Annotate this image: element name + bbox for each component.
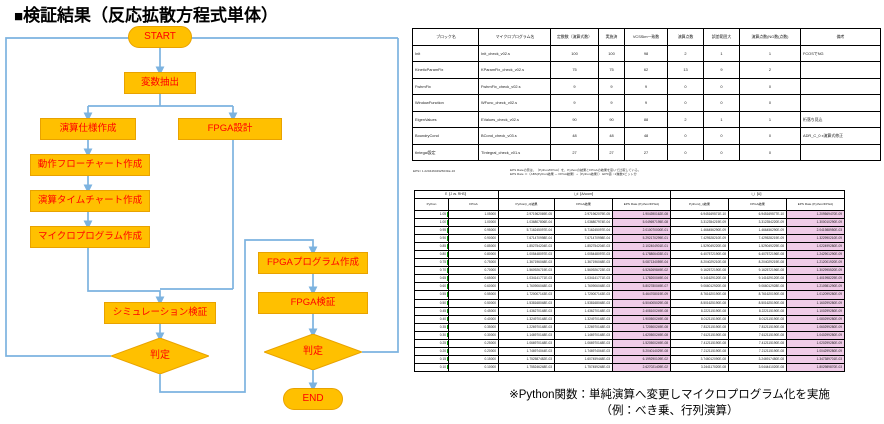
table-row: 0.300.300001.146970148E-031.146970148E-0… [415, 331, 881, 339]
column-header-python-id: Python(i_d)結果 [499, 199, 555, 211]
cell-python-ii: 7.212115190E-08 [671, 347, 729, 355]
cell-eps-rate-id: 6.178806403E-01 [613, 251, 671, 259]
cell-eps-rate-ii: 1.020299280E-09 [787, 339, 845, 347]
cell-errrange: 0 [704, 78, 740, 95]
cell-eps-rate-id: 2.102404901E-01 [613, 243, 671, 251]
cell-points: 0 [668, 78, 704, 95]
cell-done: 48 [599, 128, 625, 145]
column-header-eps-rate-ii: EPS Rate (Python/FPGA) [787, 199, 845, 211]
cell-program: BCond_check_v03.s [479, 128, 551, 145]
cell-ng: 2 [740, 62, 801, 79]
cell-fpga-ii: 3.044441020E-08 [729, 363, 787, 371]
column-header-points: 演算点数 [668, 29, 704, 46]
cell-fpga-id: 1.367196048E-03 [555, 259, 613, 267]
eps-comparison-table: E【J vs. RHS】 i_d【A/sccm】 i_i【A】 Python F… [414, 190, 881, 372]
cell-block: FwhmFix [413, 78, 479, 95]
cell-fpga-ii: 7.412115190E-08 [729, 339, 787, 347]
spacer-cell [845, 363, 881, 371]
cell-python: 0.55 [415, 291, 449, 299]
table-row: 0.800.800001.005448097E-031.005448097E-0… [415, 251, 881, 259]
cell-fpga-ii: 9.162572196E-08 [729, 267, 787, 275]
cell-points: 2 [668, 45, 704, 62]
cell-python-id: 5.716245097E-04 [499, 227, 555, 235]
cell-python-id: 1.367196048E-03 [499, 259, 555, 267]
flow-node-label: 動作フローチャート作成 [38, 160, 142, 170]
cell-python-ii: 3.312354219E-09 [671, 219, 729, 227]
cell-fpga-ii: 7.429528219E-09 [729, 235, 787, 243]
cell-consts: 90 [551, 111, 599, 128]
cell-points: 2 [668, 111, 704, 128]
cell-ng: 0 [740, 78, 801, 95]
flow-node-label: FPGA検証 [291, 298, 336, 308]
cell-python-id: 1.538168048E-03 [499, 299, 555, 307]
table-row: 0.650.650001.034141771E-031.034141771E-0… [415, 275, 881, 283]
cell-fpga-ii: 8.012115190E-08 [729, 315, 787, 323]
eps-rate-explanation: EPS Rateの意は、（Python/FPGA）を、Pythonの結果とFPG… [510, 168, 641, 177]
cell-eps-rate-ii: 2.041988950E-03 [787, 227, 845, 235]
flow-node-label: 演算タイムチャート作成 [38, 196, 142, 206]
cell-match: 27 [625, 144, 668, 161]
table-row: 0.700.700001.560926719E-031.560926723E-0… [415, 267, 881, 275]
cell-fpga: 0.50000 [449, 299, 499, 307]
cell-eps-rate-ii: 1.802989870E-03 [787, 363, 845, 371]
cell-python: 0.60 [415, 283, 449, 291]
spacer-cell [845, 331, 881, 339]
flow-node-operation-flowchart[interactable]: 動作フローチャート作成 [30, 154, 150, 176]
cell-program: KParamFix_check_v02.s [479, 62, 551, 79]
table-row: 0.950.950005.716245097E-045.716245097E-0… [415, 227, 881, 235]
cell-fpga: 0.80000 [449, 251, 499, 259]
cell-python-ii: 8.222115190E-08 [671, 307, 729, 315]
cell-python-id: 1.755246248E-03 [499, 363, 555, 371]
cell-fpga: 0.35000 [449, 323, 499, 331]
cell-python: 1.00 [415, 219, 449, 227]
table-row: 0.150.150001.752587482E-031.607459448E-0… [415, 355, 881, 363]
cell-done: 75 [599, 62, 625, 79]
cell-eps-rate-ii: 1.012099280E-09 [787, 291, 845, 299]
cell-python-id: 1.324970148E-03 [499, 315, 555, 323]
cell-errrange: 1 [704, 111, 740, 128]
column-header-fpga: FPGA [449, 199, 499, 211]
table-row: 0.250.250001.066970148E-031.066970148E-0… [415, 339, 881, 347]
cell-fpga-id: 5.716245097E-04 [555, 227, 613, 235]
table-row: 1.001.000001.036807806E-041.036807974E-0… [415, 219, 881, 227]
page-title: ■検証結果（反応拡散方程式単体） [14, 1, 278, 26]
table-row: 0.600.600001.760906048E-031.760906048E-0… [415, 283, 881, 291]
column-header-program: マイクロプログラム名 [479, 29, 551, 46]
cell-consts: 9 [551, 95, 599, 112]
table-row: FwhmFix FwhmFix_check_v02.s 9 9 9 0 0 0 [413, 78, 881, 95]
cell-fpga: 0.95000 [449, 227, 499, 235]
cell-match: 98 [625, 45, 668, 62]
column-header-fpga-ii: FPGA結果 [729, 199, 787, 211]
cell-eps-rate-ii: 1.022499280E-09 [787, 243, 845, 251]
bullet-marker: ■ [14, 8, 23, 25]
flow-node-operation-spec[interactable]: 演算仕様作成 [40, 118, 136, 140]
cell-python-id: 1.752587482E-03 [499, 355, 555, 363]
spacer-cell [845, 219, 881, 227]
cell-fpga: 0.75000 [449, 259, 499, 267]
cell-match: 88 [625, 111, 668, 128]
cell-match: 48 [625, 128, 668, 145]
cell-python: 0.10 [415, 363, 449, 371]
cell-python-ii: 8.012115190E-08 [671, 315, 729, 323]
cell-remark [801, 144, 881, 161]
table-subheader-row: Python FPGA Python(i_d)結果 FPGA結果 EPS Rat… [415, 199, 881, 211]
flow-node-end[interactable]: END [283, 388, 343, 410]
table-header-row: ブロック名 マイクロプログラム名 定数数（演算式数） 実施済 VCSSim一致数… [413, 29, 881, 46]
cell-eps-rate-id: 2.010070000E-01 [613, 227, 671, 235]
cell-python: 0.30 [415, 331, 449, 339]
flow-node-operation-timechart[interactable]: 演算タイムチャート作成 [30, 190, 150, 212]
cell-fpga-ii: 1.466456290E-09 [729, 227, 787, 235]
column-header-block: ブロック名 [413, 29, 479, 46]
cell-python-id: 1.720007143E-03 [499, 291, 555, 299]
cell-points: 0 [668, 128, 704, 145]
column-header-eps-rate-id: EPS Rate (Python/FPGA) [613, 199, 671, 211]
cell-fpga-ii: 8.761620190E-08 [729, 291, 787, 299]
page-title-text: 検証結果（反応拡散方程式単体） [23, 6, 278, 25]
cell-fpga: 0.15000 [449, 355, 499, 363]
cell-eps-rate-ii: 1.040299280E-09 [787, 331, 845, 339]
cell-fpga-ii: 1.529049229E-08 [729, 243, 787, 251]
cell-fpga-id: 1.066970148E-03 [555, 339, 613, 347]
table-row: 0.850.850001.852754204E-031.852754204E-0… [415, 243, 881, 251]
cell-python-id: 1.034141771E-03 [499, 275, 555, 283]
cell-program: WFunc_check_v02.s [479, 95, 551, 112]
table-row: EigenValues EValues_check_v02.s 90 90 88… [413, 111, 881, 128]
cell-eps-rate-ii: 1.347389701E-03 [787, 355, 845, 363]
cell-python-ii: 7.412115190E-08 [671, 339, 729, 347]
flow-node-label: 判定 [150, 351, 170, 362]
cell-done: 100 [599, 45, 625, 62]
cell-fpga: 0.45000 [449, 307, 499, 315]
cell-eps-rate-id: 5.464708019E-09 [613, 291, 671, 299]
spacer-cell [845, 211, 881, 219]
spacer-cell [845, 275, 881, 283]
cell-fpga: 1.05000 [449, 211, 499, 219]
cell-eps-rate-id: 1.720500249E-08 [613, 323, 671, 331]
cell-fpga: 0.20000 [449, 347, 499, 355]
column-header-fpga-id: FPGA結果 [555, 199, 613, 211]
cell-python: 0.90 [415, 235, 449, 243]
cell-fpga-id: 2.971962079E-05 [555, 211, 613, 219]
cell-fpga-ii: 9.066012928E-08 [729, 283, 787, 291]
cell-fpga-id: 1.760906048E-03 [555, 283, 613, 291]
cell-errrange: 9 [704, 62, 740, 79]
cell-remark [801, 78, 881, 95]
cell-eps-rate-id: 1.520500249E-08 [613, 339, 671, 347]
cell-eps-rate-ii: 1.160299280E-09 [787, 299, 845, 307]
flow-node-simulation-verification[interactable]: シミュレーション検証 [104, 302, 216, 324]
cell-python-ii: 7.612115190E-08 [671, 331, 729, 339]
cell-python-ii: 9.162572190E-08 [671, 267, 729, 275]
cell-consts: 27 [551, 144, 599, 161]
spacer-cell [845, 199, 881, 211]
group-header-ii: i_i【A】 [671, 191, 845, 199]
cell-errrange: 0 [704, 144, 740, 161]
cell-block: KineticParamFix [413, 62, 479, 79]
spacer-cell [845, 355, 881, 363]
cell-fpga-ii: 7.612115190E-08 [729, 331, 787, 339]
flow-node-variable-extraction[interactable]: 変数抽出 [124, 72, 196, 94]
spacer-cell [845, 251, 881, 259]
cell-fpga-ii: 3.312354220E-09 [729, 219, 787, 227]
cell-fpga: 0.85000 [449, 243, 499, 251]
cell-block: tIntegal設定 [413, 144, 479, 161]
cell-python: 0.85 [415, 243, 449, 251]
cell-python: 0.65 [415, 275, 449, 283]
flow-node-label: END [302, 394, 323, 405]
cell-match: 62 [625, 62, 668, 79]
cell-fpga-id: 1.324970148E-03 [555, 315, 613, 323]
cell-block: BoundryCond [413, 128, 479, 145]
column-header-remark: 備考 [801, 29, 881, 46]
cell-points: 0 [668, 95, 704, 112]
table-row: Init Init_check_v02.s 100 100 98 2 1 1 F… [413, 45, 881, 62]
cell-ng: 1 [740, 45, 801, 62]
cell-eps-rate-id: 5.802780049E-07 [613, 283, 671, 291]
eps-rate-line2: EPS Rate ＝（ABS(Python結果 － FPGA結果）÷（Pytho… [510, 172, 641, 176]
cell-remark [801, 62, 881, 79]
cell-fpga-ii: 7.212115190E-08 [729, 347, 787, 355]
cell-python-ii: 9.141629120E-08 [671, 275, 729, 283]
cell-python-id: 1.852754204E-03 [499, 243, 555, 251]
cell-points: 0 [668, 144, 704, 161]
cell-python: 0.35 [415, 323, 449, 331]
column-header-ng-count: 演算点数(NG数(点数) [740, 29, 801, 46]
cell-fpga-ii: 6.407572196E-08 [729, 251, 787, 259]
cell-python: 0.50 [415, 299, 449, 307]
cell-python: 1.05 [415, 211, 449, 219]
flow-node-label: 変数抽出 [141, 78, 179, 88]
cell-eps-rate-id: 5.292170299E-01 [613, 235, 671, 243]
footnote-line1: ※Python関数：単純演算へ変更しマイクロプログラム化を実施 [509, 389, 830, 401]
cell-python-id: 7.671470998E-04 [499, 235, 555, 243]
cell-errrange: 0 [704, 128, 740, 145]
cell-python-ii: 7.429528210E-09 [671, 235, 729, 243]
flow-node-label: 演算仕様作成 [59, 124, 116, 134]
cell-done: 9 [599, 78, 625, 95]
cell-python: 0.45 [415, 307, 449, 315]
cell-fpga-ii: 3.246917480E-08 [729, 355, 787, 363]
cell-fpga: 0.10000 [449, 363, 499, 371]
cell-fpga-ii: 6.945169577E-10 [729, 211, 787, 219]
cell-fpga: 0.70000 [449, 267, 499, 275]
cell-fpga-id: 1.036807974E-04 [555, 219, 613, 227]
flow-node-microprogram[interactable]: マイクロプログラム作成 [30, 226, 150, 248]
cell-python: 0.25 [415, 339, 449, 347]
cell-eps-rate-ii: 1.242901290E-09 [787, 251, 845, 259]
cell-python-ii: 1.529049220E-08 [671, 243, 729, 251]
cell-python: 0.20 [415, 347, 449, 355]
flowchart-diagram: START 変数抽出 演算仕様作成 FPGA設計 動作フローチャート作成 演算タ… [0, 24, 404, 424]
column-header-python-ii: Python(i_i)結果 [671, 199, 729, 211]
spacer-cell [845, 259, 881, 267]
spacer-cell [845, 339, 881, 347]
cell-match: 9 [625, 78, 668, 95]
cell-eps-rate-id: 1.900500249E-08 [613, 315, 671, 323]
cell-python-ii: 1.466456290E-09 [671, 227, 729, 235]
eps-value-note: EPS= 1.22044604925031E-16 [413, 169, 455, 173]
cell-eps-rate-ii: 1.209569470E-09 [787, 211, 845, 219]
cell-fpga: 0.90000 [449, 235, 499, 243]
table-row: 0.200.200001.746974044E-031.746974044E-0… [415, 347, 881, 355]
cell-fpga-id: 1.034141771E-03 [555, 275, 613, 283]
cell-eps-rate-ii: 1.322990210E-09 [787, 235, 845, 243]
cell-python: 0.15 [415, 355, 449, 363]
table-group-header-row: E【J vs. RHS】 i_d【A/sccm】 i_i【A】 [415, 191, 881, 199]
cell-consts: 9 [551, 78, 599, 95]
cell-eps-rate-id: 1.620500249E-08 [613, 331, 671, 339]
spacer-cell [845, 243, 881, 251]
flow-node-label: FPGAプログラム作成 [267, 258, 359, 268]
table-row: 0.100.100001.755246248E-031.757459248E-0… [415, 363, 881, 371]
cell-fpga-ii: 7.812115190E-08 [729, 323, 787, 331]
column-header-vcssim-match: VCSSim一致数 [625, 29, 668, 46]
flow-node-label: START [144, 32, 176, 43]
cell-python-id: 1.005448097E-03 [499, 251, 555, 259]
cell-python-id: 1.066970148E-03 [499, 339, 555, 347]
cell-python-id: 1.560926719E-03 [499, 267, 555, 275]
cell-python-id: 1.436270148E-03 [499, 307, 555, 315]
cell-fpga-id: 1.005448097E-03 [555, 251, 613, 259]
cell-eps-rate-ii: 1.100299280E-09 [787, 307, 845, 315]
table-row: BoundryCond BCond_check_v03.s 48 48 48 0… [413, 128, 881, 145]
cell-python-id: 1.760906048E-03 [499, 283, 555, 291]
table-row: 0.400.400001.324970148E-031.324970148E-0… [415, 315, 881, 323]
cell-python: 0.80 [415, 251, 449, 259]
flow-node-label: マイクロプログラム作成 [38, 232, 142, 242]
cell-python-id: 1.226970148E-03 [499, 323, 555, 331]
flow-node-fpga-program[interactable]: FPGAプログラム作成 [258, 252, 368, 274]
cell-python-ii: 8.204029210E-08 [671, 259, 729, 267]
spacer-cell [845, 227, 881, 235]
cell-ng: 0 [740, 128, 801, 145]
cell-block: EigenValues [413, 111, 479, 128]
cell-fpga-ii: 8.501625190E-08 [729, 299, 787, 307]
table-row: 0.900.900007.671470998E-047.671470998E-0… [415, 235, 881, 243]
cell-eps-rate-id: 1.178200049E-04 [613, 275, 671, 283]
spacer-cell [845, 299, 881, 307]
cell-done: 90 [599, 111, 625, 128]
cell-eps-rate-id: 5.087134059E-04 [613, 259, 671, 267]
cell-eps-rate-id: 2.627021409E-02 [613, 363, 671, 371]
cell-block: WindowFunction [413, 95, 479, 112]
cell-eps-rate-id: 1.904390162E-08 [613, 211, 671, 219]
eps-table-body: 1.051.050002.971962069E-052.971962079E-0… [415, 211, 881, 372]
spacer-cell [845, 235, 881, 243]
table-row: 0.350.350001.226970148E-031.226970148E-0… [415, 323, 881, 331]
flow-node-label: FPGA設計 [208, 124, 253, 134]
cell-eps-rate-id: 6.199290109E-02 [613, 355, 671, 363]
table-row: 0.500.500001.538168048E-031.538168048E-0… [415, 299, 881, 307]
cell-python-ii: 8.761620190E-08 [671, 291, 729, 299]
cell-eps-rate-id: 2.408100249E-08 [613, 307, 671, 315]
cell-eps-rate-ii: 1.004299280E-09 [787, 347, 845, 355]
cell-fpga: 0.60000 [449, 283, 499, 291]
footnote-line2: （例：べき乗、行列演算） [455, 404, 884, 420]
cell-eps-rate-id: 6.504005029E-08 [613, 299, 671, 307]
spacer-cell [845, 191, 881, 199]
cell-eps-rate-ii: 1.212001920E-09 [787, 259, 845, 267]
cell-python-id: 2.971962069E-05 [499, 211, 555, 219]
cell-eps-rate-ii: 1.300010290E-09 [787, 219, 845, 227]
column-header-error-range: 誤差範囲大 [704, 29, 740, 46]
cell-program: FwhmFix_check_v02.s [479, 78, 551, 95]
cell-fpga: 0.30000 [449, 331, 499, 339]
flow-node-fpga-verification[interactable]: FPGA検証 [258, 292, 368, 314]
cell-remark [801, 95, 881, 112]
cell-python: 0.75 [415, 259, 449, 267]
table-row: 0.550.550001.720007143E-031.720007143E-0… [415, 291, 881, 299]
column-header-const-count: 定数数（演算式数） [551, 29, 599, 46]
cell-python: 0.70 [415, 267, 449, 275]
cell-remark: 桁落ち見込 [801, 111, 881, 128]
spacer-cell [845, 323, 881, 331]
cell-python: 0.95 [415, 227, 449, 235]
cell-errrange: 0 [704, 95, 740, 112]
cell-program: EValues_check_v02.s [479, 111, 551, 128]
table-row: 1.051.050002.971962069E-052.971962079E-0… [415, 211, 881, 219]
cell-fpga: 0.65000 [449, 275, 499, 283]
table-row: 0.450.450001.436270148E-031.436270148E-0… [415, 307, 881, 315]
cell-fpga-ii: 8.222115190E-08 [729, 307, 787, 315]
spacer-cell [845, 315, 881, 323]
cell-fpga-id: 1.746974044E-03 [555, 347, 613, 355]
flow-node-decision-fpga[interactable]: 判定 [264, 334, 362, 370]
eps-note-block: EPS= 1.22044604925031E-16 EPS Rateの意は、（P… [412, 168, 884, 188]
flow-node-start[interactable]: START [128, 26, 192, 48]
cell-python-ii: 3.746012090E-08 [671, 355, 729, 363]
flow-node-decision-simulation[interactable]: 判定 [111, 338, 209, 374]
cell-consts: 100 [551, 45, 599, 62]
cell-python-id: 1.746974044E-03 [499, 347, 555, 355]
cell-consts: 48 [551, 128, 599, 145]
cell-python: 0.40 [415, 315, 449, 323]
table-row: tIntegal設定 TIntegral_check_v01.s 27 27 2… [413, 144, 881, 161]
cell-fpga-id: 1.720007143E-03 [555, 291, 613, 299]
table-row: WindowFunction WFunc_check_v02.s 9 9 9 0… [413, 95, 881, 112]
spacer-cell [845, 307, 881, 315]
cell-remark: FCOSでNG [801, 45, 881, 62]
cell-fpga: 0.25000 [449, 339, 499, 347]
column-header-done: 実施済 [599, 29, 625, 46]
cell-fpga: 0.55000 [449, 291, 499, 299]
cell-program: TIntegral_check_v01.s [479, 144, 551, 161]
cell-python-ii: 9.066012920E-08 [671, 283, 729, 291]
cell-fpga: 1.00000 [449, 219, 499, 227]
cell-fpga-id: 7.671470998E-04 [555, 235, 613, 243]
cell-fpga-id: 1.538168048E-03 [555, 299, 613, 307]
cell-python-ii: 3.244117020E-08 [671, 363, 729, 371]
cell-eps-rate-id: 5.049697195E-08 [613, 219, 671, 227]
cell-fpga-id: 1.607459448E-03 [555, 355, 613, 363]
flow-node-label: 判定 [303, 347, 323, 358]
cell-fpga-ii: 8.204029219E-08 [729, 259, 787, 267]
flow-node-fpga-design[interactable]: FPGA設計 [178, 118, 282, 140]
cell-eps-rate-ii: 1.302995520E-09 [787, 267, 845, 275]
cell-match: 9 [625, 95, 668, 112]
cell-eps-rate-id: 6.526269849E-02 [613, 267, 671, 275]
cell-fpga-id: 1.146970148E-03 [555, 331, 613, 339]
cell-done: 9 [599, 95, 625, 112]
cell-python-ii: 6.945169571E-10 [671, 211, 729, 219]
cell-eps-rate-ii: 1.080299280E-09 [787, 315, 845, 323]
cell-ng: 0 [740, 95, 801, 112]
cell-eps-rate-ii: 1.401998229E-09 [787, 275, 845, 283]
cell-remark: ADR_C_0 x演算式修正 [801, 128, 881, 145]
